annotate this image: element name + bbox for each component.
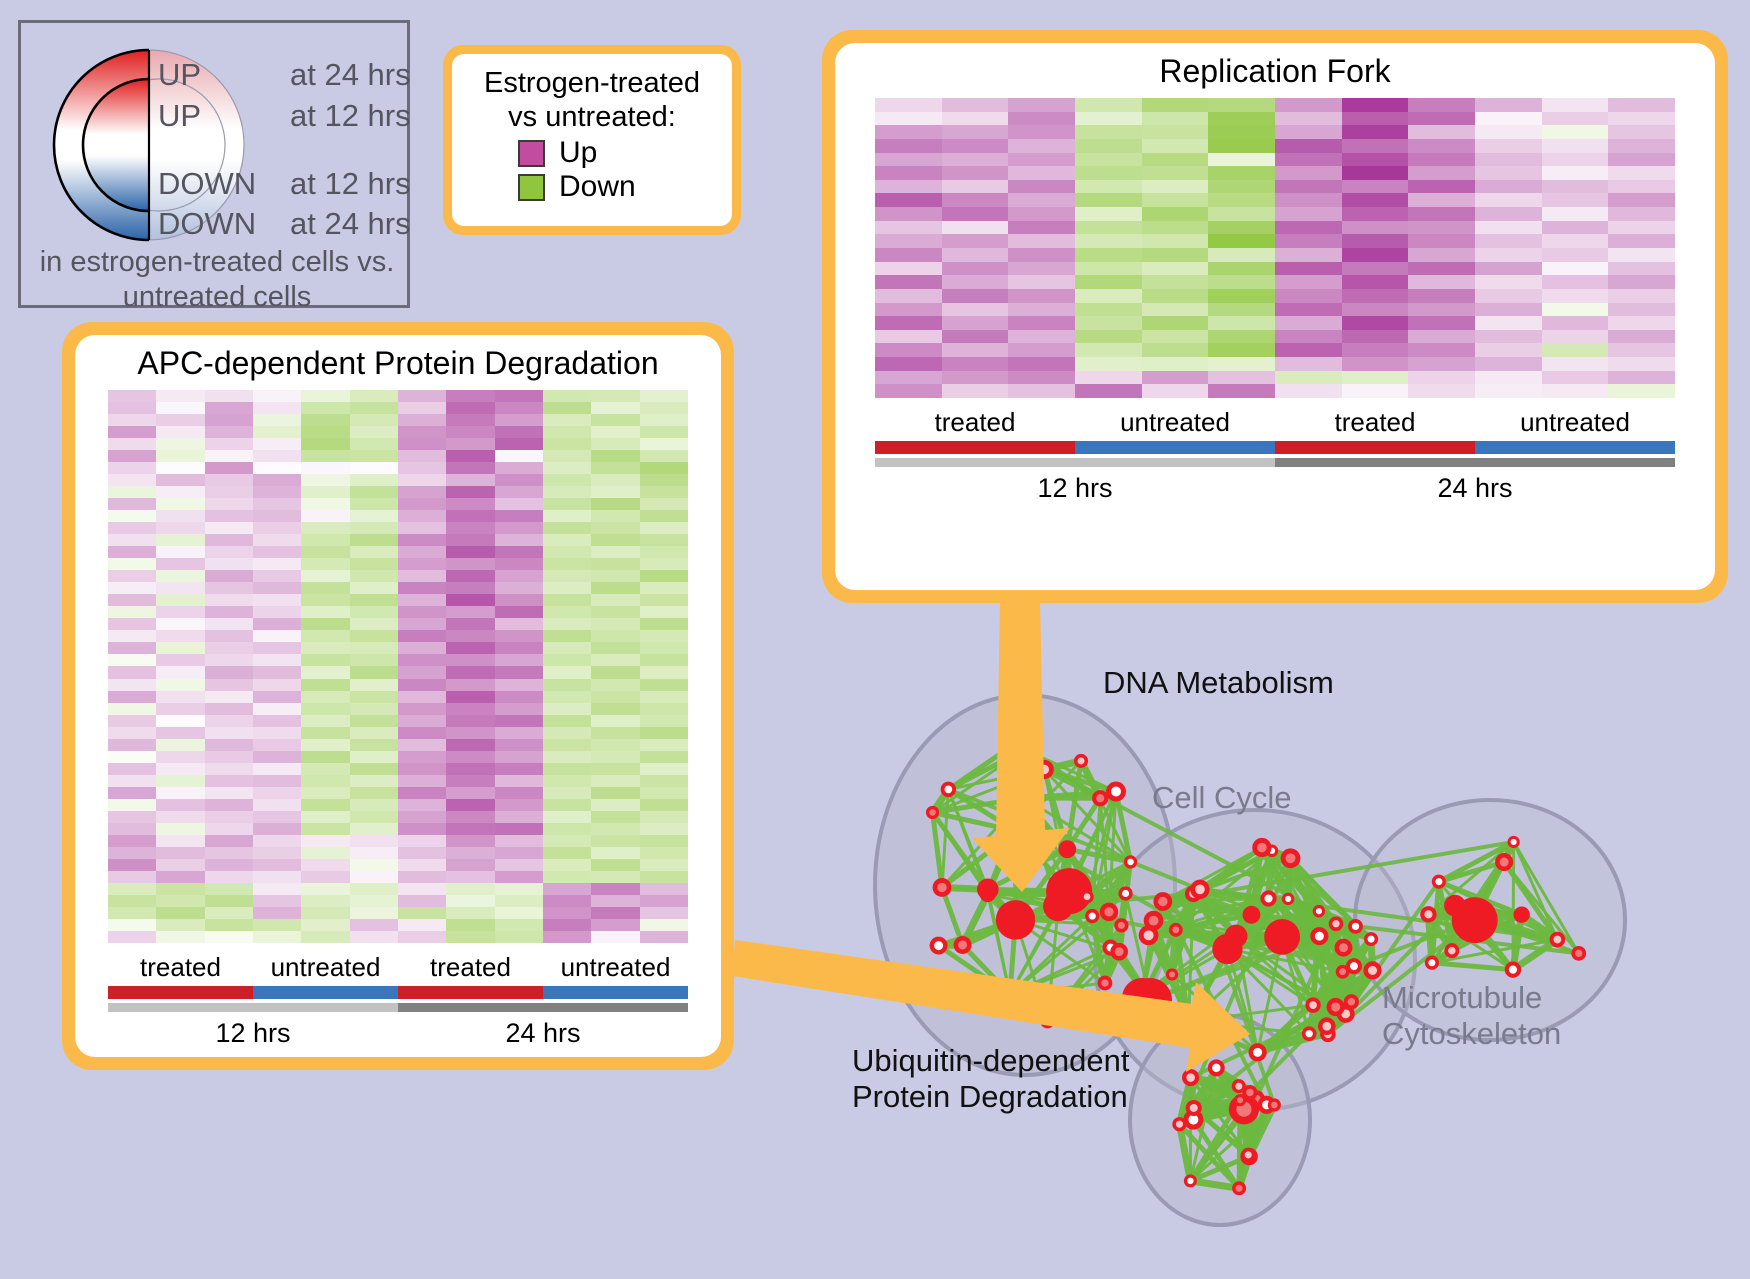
heatmap-cell	[108, 679, 156, 691]
heatmap-cell	[446, 474, 494, 486]
heatmap-cell	[156, 642, 204, 654]
heatmap-cell	[591, 727, 639, 739]
heatmap-cell	[543, 775, 591, 787]
heatmap-cell	[205, 691, 253, 703]
heatmap-cell	[350, 606, 398, 618]
heatmap-cell	[1408, 98, 1475, 112]
network-node	[1017, 791, 1030, 804]
heatmap-cell	[640, 871, 688, 883]
heatmap-cell	[495, 594, 543, 606]
heatmap-cell	[1475, 234, 1542, 248]
heatmap-cell	[640, 498, 688, 510]
heatmap-cell	[205, 763, 253, 775]
heatmap-cell	[875, 112, 942, 126]
heatmap-cell	[640, 606, 688, 618]
network-node	[1017, 742, 1033, 758]
heatmap-cell	[1408, 193, 1475, 207]
heatmap-cell	[942, 316, 1009, 330]
heatmap-cell	[205, 630, 253, 642]
heatmap-cell	[301, 811, 349, 823]
pathway-network-diagram	[790, 600, 1750, 1279]
heatmap-cell	[446, 426, 494, 438]
heatmap-cell	[495, 751, 543, 763]
heatmap-cell	[398, 799, 446, 811]
heatmap-cell	[591, 402, 639, 414]
heatmap-cell	[1342, 316, 1409, 330]
network-node	[1124, 855, 1137, 868]
heatmap-cell	[1608, 125, 1675, 139]
heatmap-cell	[350, 787, 398, 799]
network-node	[1241, 1148, 1255, 1162]
heatmap-cell	[942, 289, 1009, 303]
network-node	[1444, 943, 1459, 958]
heatmap-cell	[1208, 234, 1275, 248]
heatmap-cell	[1608, 303, 1675, 317]
heatmap-cell	[350, 907, 398, 919]
heatmap-cell	[350, 618, 398, 630]
heatmap-cell	[108, 919, 156, 931]
network-node	[1252, 838, 1271, 857]
heatmap-cell	[1342, 371, 1409, 385]
network-node	[1242, 906, 1260, 924]
heatmap-cell	[350, 498, 398, 510]
heatmap-cell	[108, 606, 156, 618]
heatmap-cell	[205, 582, 253, 594]
heatmap-cell	[108, 510, 156, 522]
network-node	[933, 878, 952, 897]
heatmap-cell	[398, 751, 446, 763]
heatmap-cell	[1608, 153, 1675, 167]
heatmap-cell	[1142, 125, 1209, 139]
heatmap-cell	[591, 414, 639, 426]
heatmap-cell	[640, 763, 688, 775]
heatmap-cell	[301, 486, 349, 498]
heatmap-cell	[1075, 207, 1142, 221]
bar-24hrs	[398, 1003, 688, 1012]
heatmap-cell	[1408, 221, 1475, 235]
heatmap-cell	[205, 679, 253, 691]
heatmap-cell	[108, 931, 156, 943]
heatmap-cell	[1542, 262, 1609, 276]
heatmap-cell	[1542, 316, 1609, 330]
heatmap-cell	[398, 522, 446, 534]
heatmap-cell	[1475, 303, 1542, 317]
heatmap-cell	[543, 799, 591, 811]
heatmap-cell	[1475, 343, 1542, 357]
heatmap-cell	[1275, 193, 1342, 207]
heatmap-cell	[495, 462, 543, 474]
heatmap-cell	[301, 775, 349, 787]
heatmap-cell	[398, 510, 446, 522]
key-row-up-24: UP at 24 hrs	[158, 57, 411, 93]
bar-untreated	[253, 986, 398, 999]
heatmap-cell	[398, 691, 446, 703]
heatmap-cell	[301, 787, 349, 799]
heatmap-cell	[591, 811, 639, 823]
heatmap-cell	[301, 847, 349, 859]
heatmap-cell	[108, 558, 156, 570]
heatmap-cell	[108, 438, 156, 450]
heatmap-cell	[398, 630, 446, 642]
heatmap-cell	[875, 330, 942, 344]
key-row-up-12: UP at 12 hrs	[158, 98, 411, 134]
heatmap-cell	[205, 450, 253, 462]
heatmap-cell	[398, 498, 446, 510]
heatmap-cell	[942, 98, 1009, 112]
cond-label: treated	[398, 952, 543, 983]
heatmap-cell	[108, 895, 156, 907]
heatmap-cell	[398, 642, 446, 654]
heatmap-cell	[543, 691, 591, 703]
heatmap-cell	[640, 486, 688, 498]
network-node	[1329, 916, 1344, 931]
heatmap-cell	[253, 847, 301, 859]
heatmap-cell	[591, 618, 639, 630]
heatmap-cell	[1075, 221, 1142, 235]
heatmap-cell	[640, 426, 688, 438]
heatmap-cell	[398, 414, 446, 426]
network-node	[1035, 760, 1054, 779]
heatmap-cell	[398, 895, 446, 907]
heatmap-cell	[1475, 193, 1542, 207]
heatmap-cell	[640, 847, 688, 859]
heatmap-cell	[495, 715, 543, 727]
heatmap-cell	[156, 498, 204, 510]
heatmap-cell	[350, 931, 398, 943]
heatmap-cell	[156, 558, 204, 570]
heatmap-cell	[108, 835, 156, 847]
heatmap-cell	[543, 871, 591, 883]
heatmap-cell	[108, 498, 156, 510]
heatmap-cell	[1342, 289, 1409, 303]
heatmap-cell	[543, 402, 591, 414]
heatmap-cell	[875, 221, 942, 235]
heatmap-cell	[543, 510, 591, 522]
heatmap-cell	[1142, 330, 1209, 344]
heatmap-cell	[1408, 316, 1475, 330]
heatmap-cell	[495, 835, 543, 847]
heatmap-cell	[205, 642, 253, 654]
heatmap-cell	[398, 462, 446, 474]
heatmap-cell	[156, 546, 204, 558]
heatmap-cell	[398, 703, 446, 715]
heatmap-cell	[446, 871, 494, 883]
network-node	[1364, 932, 1378, 946]
time-label: 24 hrs	[1275, 473, 1675, 504]
network-node	[1335, 939, 1353, 957]
heatmap-cell	[1142, 207, 1209, 221]
heatmap-cell	[446, 558, 494, 570]
heatmap-cell	[1075, 357, 1142, 371]
heatmap-cell	[156, 871, 204, 883]
heatmap-cell	[591, 474, 639, 486]
heatmap-cell	[640, 582, 688, 594]
heatmap-cell	[350, 438, 398, 450]
time-colorbar-replication-fork	[875, 458, 1675, 467]
heatmap-cell	[205, 666, 253, 678]
heatmap-cell	[1342, 357, 1409, 371]
heatmap-cell	[205, 895, 253, 907]
heatmap-cell	[350, 558, 398, 570]
heatmap-cell	[1208, 275, 1275, 289]
heatmap-cell	[350, 510, 398, 522]
heatmap-cell	[543, 666, 591, 678]
heatmap-cell	[253, 703, 301, 715]
heatmap-cell	[205, 751, 253, 763]
heatmap-cell	[1208, 303, 1275, 317]
legend-item-up: Up	[466, 138, 718, 168]
key-row-down-24: DOWN at 24 hrs	[158, 206, 411, 242]
heatmap-cell	[108, 763, 156, 775]
heatmap-cell	[205, 474, 253, 486]
heatmap-cell	[301, 679, 349, 691]
heatmap-cell	[301, 895, 349, 907]
heatmap-cell	[543, 570, 591, 582]
heatmap-cell	[495, 739, 543, 751]
heatmap-cell	[1475, 166, 1542, 180]
cond-label: treated	[108, 952, 253, 983]
heatmap-cell	[253, 582, 301, 594]
heatmap-cell	[108, 654, 156, 666]
heatmap-cell	[156, 402, 204, 414]
heatmap-cell	[1208, 112, 1275, 126]
heatmap-cell	[253, 763, 301, 775]
condition-labels-apc-dependent: treated untreated treated untreated	[108, 952, 688, 983]
heatmap-cell	[1608, 112, 1675, 126]
heatmap-cell	[205, 522, 253, 534]
heatmap-cell	[350, 895, 398, 907]
heatmap-cell	[350, 763, 398, 775]
time-label: 24 hrs	[398, 1018, 688, 1049]
heatmap-cell	[301, 691, 349, 703]
heatmap-cell	[1475, 384, 1542, 398]
heatmap-cell	[301, 919, 349, 931]
heatmap-cell	[543, 751, 591, 763]
heatmap-cell	[640, 679, 688, 691]
heatmap-cell	[495, 438, 543, 450]
heatmap-cell	[350, 835, 398, 847]
heatmap-cell	[875, 384, 942, 398]
heatmap-cell	[446, 727, 494, 739]
heatmap-cell	[640, 835, 688, 847]
heatmap-cell	[205, 883, 253, 895]
heatmap-cell	[108, 474, 156, 486]
heatmap-cell	[1275, 371, 1342, 385]
heatmap-cell	[543, 835, 591, 847]
heatmap-cell	[942, 153, 1009, 167]
heatmap-cell	[446, 450, 494, 462]
heatmap-cell	[1608, 262, 1675, 276]
heatmap-cell	[640, 883, 688, 895]
heatmap-cell	[640, 931, 688, 943]
bar-treated	[108, 986, 253, 999]
heatmap-cell	[205, 799, 253, 811]
network-node	[1004, 820, 1027, 843]
heatmap-cell	[446, 919, 494, 931]
heatmap-cell	[108, 534, 156, 546]
heatmap-cell	[1275, 343, 1342, 357]
heatmap-cell	[205, 594, 253, 606]
heatmap-cell	[446, 510, 494, 522]
key-label-down-12: DOWN	[158, 166, 290, 202]
heatmap-cell	[446, 438, 494, 450]
network-node	[1003, 988, 1016, 1001]
heatmap-cell	[942, 193, 1009, 207]
heatmap-cell	[156, 715, 204, 727]
heatmap-cell	[1408, 207, 1475, 221]
treatment-colorbar-apc-dependent	[108, 986, 688, 999]
heatmap-cell	[156, 606, 204, 618]
heatmap-cell	[591, 450, 639, 462]
heatmap-cell	[1275, 221, 1342, 235]
heatmap-cell	[495, 703, 543, 715]
heatmap-cell	[1608, 207, 1675, 221]
heatmap-cell	[156, 474, 204, 486]
heatmap-cell	[1075, 139, 1142, 153]
heatmap-cell	[108, 462, 156, 474]
heatmap-cell	[1475, 275, 1542, 289]
heatmap-cell	[495, 606, 543, 618]
heatmap-cell	[591, 691, 639, 703]
network-node	[1336, 965, 1350, 979]
heatmap-cell	[1275, 289, 1342, 303]
heatmap-cell	[301, 739, 349, 751]
heatmap-cell	[495, 474, 543, 486]
network-node	[1085, 909, 1099, 923]
legend-title: Estrogen-treated vs untreated:	[466, 66, 718, 134]
heatmap-cell	[156, 666, 204, 678]
heatmap-cell	[301, 606, 349, 618]
heatmap-cell	[350, 426, 398, 438]
panel-apc-dependent: APC-dependent Protein Degradation treate…	[62, 322, 734, 1070]
heatmap-cell	[1542, 153, 1609, 167]
network-node	[1208, 1059, 1225, 1076]
heatmap-cell	[495, 630, 543, 642]
heatmap-cell	[205, 606, 253, 618]
heatmap-cell	[1075, 316, 1142, 330]
heatmap-cell	[1075, 371, 1142, 385]
heatmap-cell	[1008, 193, 1075, 207]
heatmap-cell	[1075, 343, 1142, 357]
heatmap-cell	[495, 763, 543, 775]
heatmap-cell	[350, 546, 398, 558]
heatmap-cell	[253, 859, 301, 871]
heatmap-cell	[1208, 384, 1275, 398]
heatmap-cell	[446, 582, 494, 594]
heatmap-cell	[301, 666, 349, 678]
heatmap-cell	[591, 799, 639, 811]
heatmap-cell	[1542, 343, 1609, 357]
heatmap-cell	[543, 582, 591, 594]
heatmap-cell	[398, 426, 446, 438]
network-node	[1318, 1017, 1336, 1035]
heatmap-cell	[1342, 303, 1409, 317]
heatmap-cell	[108, 522, 156, 534]
heatmap-cell	[301, 618, 349, 630]
heatmap-cell	[1408, 275, 1475, 289]
heatmap-cell	[253, 558, 301, 570]
heatmap-cell	[108, 630, 156, 642]
heatmap-cell	[253, 775, 301, 787]
heatmap-cell	[1142, 275, 1209, 289]
network-node	[930, 937, 948, 955]
heatmap-cell	[398, 787, 446, 799]
heatmap-cell	[875, 275, 942, 289]
heatmap-cell	[1408, 289, 1475, 303]
heatmap-cell	[398, 438, 446, 450]
heatmap-cell	[253, 402, 301, 414]
panel-replication-fork: Replication Fork treated untreated treat…	[822, 30, 1728, 603]
heatmap-cell	[253, 919, 301, 931]
heatmap-cell	[543, 679, 591, 691]
heatmap-cell	[1008, 112, 1075, 126]
time-labels-apc-dependent: 12 hrs 24 hrs	[108, 1018, 688, 1049]
heatmap-cell	[253, 462, 301, 474]
heatmap-cell	[253, 594, 301, 606]
heatmap-cell	[205, 546, 253, 558]
legend-label-up: Up	[559, 138, 597, 168]
heatmap-cell	[446, 775, 494, 787]
heatmap-cell	[591, 582, 639, 594]
network-node	[1098, 976, 1113, 991]
heatmap-cell	[875, 357, 942, 371]
heatmap-cell	[446, 630, 494, 642]
heatmap-cell	[301, 654, 349, 666]
heatmap-cell	[591, 606, 639, 618]
heatmap-cell	[1475, 98, 1542, 112]
heatmap-cell	[108, 751, 156, 763]
heatmap-cell	[591, 534, 639, 546]
heatmap-cell	[591, 522, 639, 534]
heatmap-cell	[156, 462, 204, 474]
heatmap-cell	[350, 402, 398, 414]
network-node	[1186, 1100, 1202, 1116]
cond-label: untreated	[1075, 407, 1275, 438]
heatmap-cell	[1275, 234, 1342, 248]
heatmap-cell	[156, 426, 204, 438]
heatmap-cell	[1142, 303, 1209, 317]
heatmap-cell	[1475, 112, 1542, 126]
heatmap-cell	[1008, 248, 1075, 262]
label-cell-cycle: Cell Cycle	[1152, 780, 1292, 816]
heatmap-cell	[350, 522, 398, 534]
heatmap-cell	[1408, 125, 1475, 139]
heatmap-cell	[398, 739, 446, 751]
heatmap-cell	[543, 618, 591, 630]
heatmap-cell	[1142, 166, 1209, 180]
heatmap-cell	[446, 763, 494, 775]
heatmap-cell	[156, 919, 204, 931]
heatmap-cell	[495, 919, 543, 931]
heatmap-cell	[640, 859, 688, 871]
heatmap-cell	[398, 582, 446, 594]
heatmap-cell	[1608, 248, 1675, 262]
time-label: 12 hrs	[875, 473, 1275, 504]
heatmap-cell	[942, 303, 1009, 317]
heatmap-cell	[398, 558, 446, 570]
network-node	[941, 782, 956, 797]
heatmap-cell	[1008, 330, 1075, 344]
heatmap-cell	[875, 316, 942, 330]
heatmap-cell	[495, 558, 543, 570]
down-swatch-icon	[518, 174, 545, 201]
heatmap-cell	[446, 462, 494, 474]
heatmap-cell	[205, 739, 253, 751]
heatmap-cell	[205, 414, 253, 426]
heatmap-cell	[640, 546, 688, 558]
heatmap-cell	[253, 414, 301, 426]
heatmap-cell	[446, 498, 494, 510]
